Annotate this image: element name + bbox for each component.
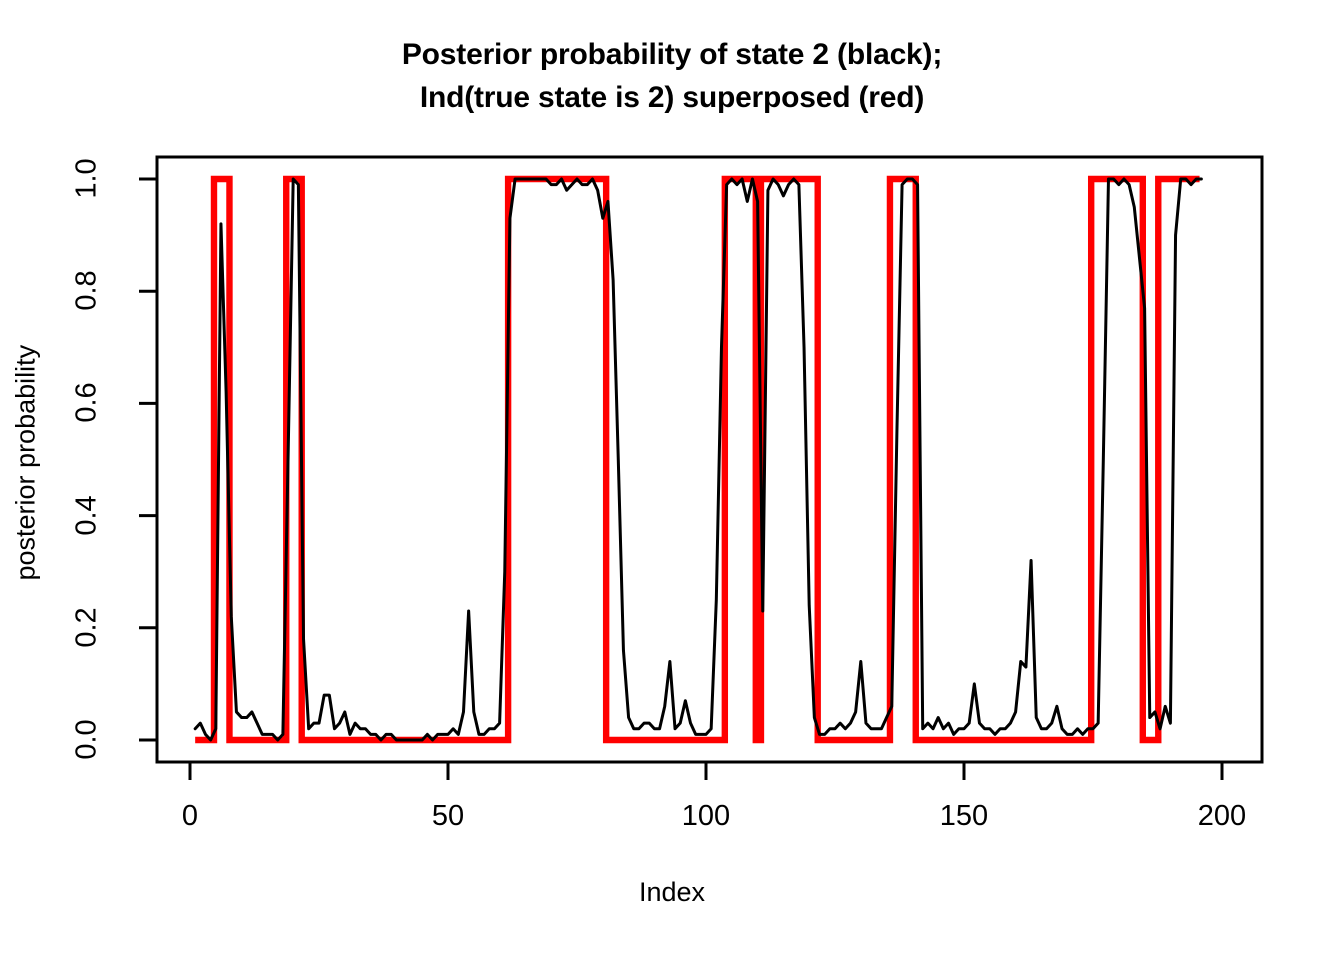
x-tick-label: 0 — [130, 800, 250, 833]
series-posterior-probability — [195, 179, 1201, 740]
x-axis — [190, 762, 1222, 780]
y-axis-title: posterior probability — [11, 361, 42, 581]
x-tick-label: 100 — [646, 800, 766, 833]
y-tick-label: 1.0 — [71, 147, 104, 211]
y-tick-label: 0.8 — [71, 259, 104, 323]
y-axis — [139, 179, 157, 740]
x-tick-label: 50 — [388, 800, 508, 833]
y-tick-label: 0.2 — [71, 595, 104, 659]
x-axis-title: Index — [0, 877, 1344, 908]
x-tick-label: 200 — [1162, 800, 1282, 833]
y-tick-label: 0.4 — [71, 483, 104, 547]
r-plot-figure: Posterior probability of state 2 (black)… — [0, 0, 1344, 960]
series-indicator-true-state-2 — [195, 179, 1199, 740]
y-tick-label: 0.6 — [71, 371, 104, 435]
y-tick-label: 0.0 — [71, 708, 104, 772]
x-tick-label: 150 — [904, 800, 1024, 833]
plot-box — [157, 157, 1262, 762]
